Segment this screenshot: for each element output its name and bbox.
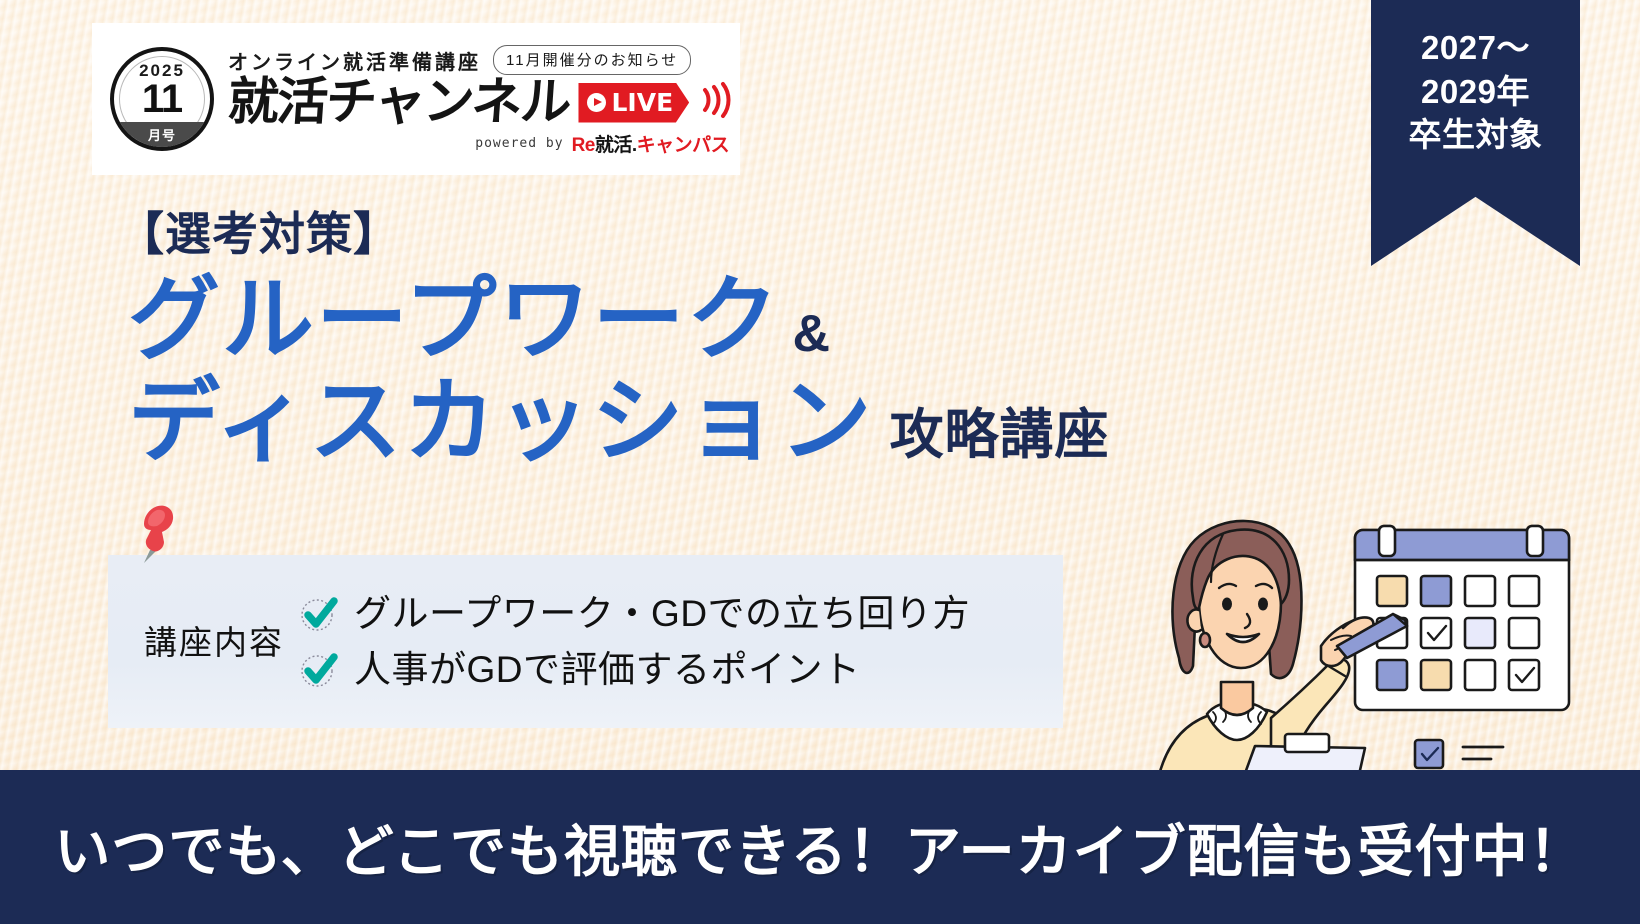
check-circle-icon: [298, 593, 340, 635]
logo-text-block: オンライン就活準備講座 11月開催分のお知らせ 就活チャンネル LIVE: [214, 23, 741, 175]
powered-brand: Re就活.キャンパス: [572, 130, 730, 157]
issue-date-badge: 2025 11 月号: [110, 47, 214, 151]
headline-text-2: ディスカッション: [128, 376, 874, 468]
promo-banner: 2027〜 2029年 卒生対象 2025 11 月号 オンライン就活準備講座 …: [0, 0, 1640, 924]
logo-box: 2025 11 月号 オンライン就活準備講座 11月開催分のお知らせ 就活チャン…: [92, 23, 740, 175]
play-icon: [587, 93, 606, 112]
broadcast-waves-icon: [699, 80, 733, 125]
brand-re: Re: [572, 135, 595, 156]
headline-line-2: ディスカッション 攻略講座: [128, 376, 1248, 468]
powered-by-label: powered by: [475, 136, 563, 151]
headline-kicker: 【選考対策】: [118, 198, 400, 264]
issue-month: 11: [142, 80, 182, 118]
check-circle-icon: [298, 649, 340, 691]
logo-top-line: オンライン就活準備講座 11月開催分のお知らせ: [228, 45, 733, 75]
headline-suffix: 攻略講座: [890, 408, 1110, 468]
logo-wordmark: 就活チャンネル: [226, 77, 571, 128]
ribbon-line-1: 2027〜: [1421, 26, 1530, 70]
list-item: グループワーク・GDでの立ち回り方: [298, 593, 1063, 635]
headline-ampersand: &: [792, 308, 830, 366]
headline-text-1: グループワーク: [128, 274, 780, 366]
bottom-banner-text: いつでも、どこでも視聴できる！アーカイブ配信も受付中！: [54, 807, 1585, 888]
logo-notice-pill: 11月開催分のお知らせ: [493, 45, 691, 75]
list-item: 人事がGDで評価するポイント: [298, 649, 1063, 691]
bottom-banner: いつでも、どこでも視聴できる！アーカイブ配信も受付中！: [0, 770, 1640, 924]
course-content-panel: 講座内容 グループワーク・GDでの立ち回り方: [108, 555, 1063, 728]
panel-label: 講座内容: [144, 616, 284, 664]
pushpin-icon: [124, 500, 184, 584]
live-label: LIVE: [611, 90, 673, 115]
headline-line-1: グループワーク &: [128, 274, 1248, 366]
course-content-list: グループワーク・GDでの立ち回り方 人事がGDで評価するポイント: [298, 593, 1063, 691]
live-badge: LIVE: [578, 83, 689, 123]
brand-mid: 就活.: [595, 135, 637, 156]
ribbon-line-2: 2029年: [1421, 70, 1530, 114]
logo-kicker: オンライン就活準備講座: [228, 46, 481, 75]
list-item-label: グループワーク・GDでの立ち回り方: [354, 595, 970, 632]
logo-main-line: 就活チャンネル LIVE: [228, 77, 733, 128]
powered-by-line: powered by Re就活.キャンパス: [228, 130, 733, 157]
panel-inner: 講座内容 グループワーク・GDでの立ち回り方: [108, 555, 1063, 728]
target-audience-ribbon: 2027〜 2029年 卒生対象: [1371, 0, 1580, 266]
headline-title: グループワーク & ディスカッション 攻略講座: [128, 274, 1248, 468]
issue-month-label: 月号: [114, 122, 210, 147]
brand-tail: キャンパス: [637, 135, 730, 156]
list-item-label: 人事がGDで評価するポイント: [354, 651, 861, 688]
ribbon-line-3: 卒生対象: [1409, 113, 1543, 157]
